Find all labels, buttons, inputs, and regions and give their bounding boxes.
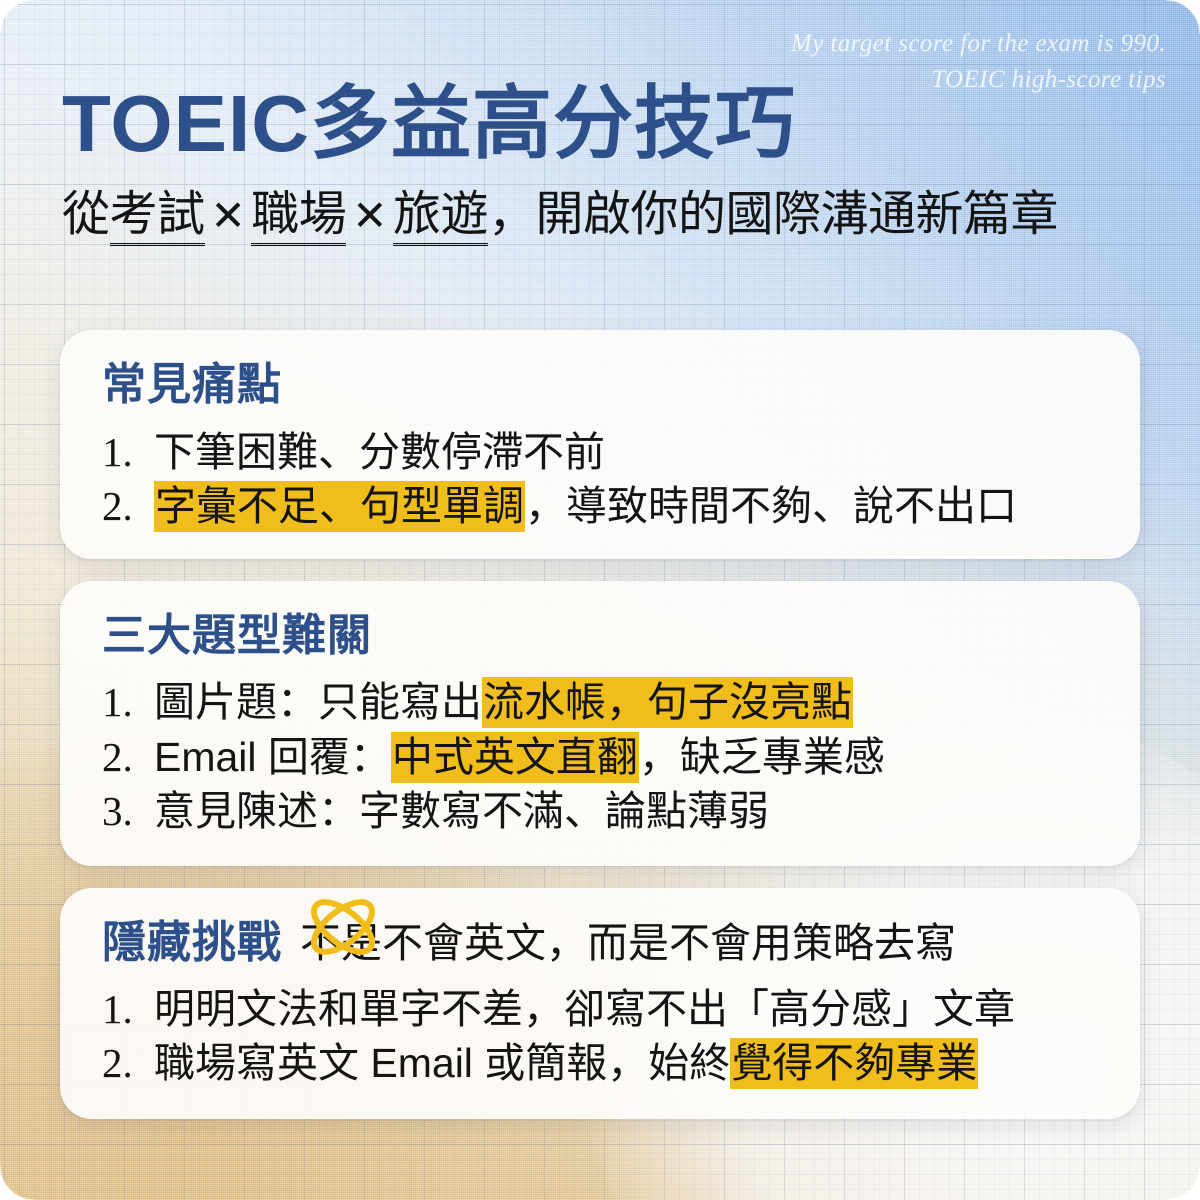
card-hidden-challenge: 隱藏挑戰 不是不會英文，而是不會用策略去寫 1. 明明文法和單字不差，卻寫不出「…	[60, 888, 1140, 1119]
list-item-number: 2.	[102, 1036, 154, 1090]
list-item-number: 1.	[102, 982, 154, 1036]
list-question-types: 1. 圖片題：只能寫出流水帳，句子沒亮點 2. Email 回覆：中式英文直翻，…	[102, 675, 1102, 837]
text-plain-pre: 下筆困難、分數停滯不前	[154, 429, 605, 475]
list-item-text: 字彙不足、句型單調，導致時間不夠、說不出口	[154, 479, 1102, 533]
list-item: 3. 意見陳述：字數寫不滿、論點薄弱	[102, 784, 1102, 838]
list-item-number: 1.	[102, 425, 154, 479]
highlighted-phrase: 中式英文直翻	[391, 732, 639, 783]
highlighted-phrase: 覺得不夠專業	[730, 1038, 978, 1089]
list-item-text: 意見陳述：字數寫不滿、論點薄弱	[154, 784, 1102, 838]
highlighted-phrase: 流水帳，句子沒亮點	[482, 677, 853, 728]
card-heading-row-hidden-challenge: 隱藏挑戰 不是不會英文，而是不會用策略去寫	[102, 918, 1102, 969]
card-stack: 常見痛點 1. 下筆困難、分數停滯不前 2. 字彙不足、句型單調，導致時間不夠、…	[60, 330, 1140, 1141]
text-plain-pre: Email 回覆：	[154, 734, 391, 780]
corner-mask-top-right	[1166, 0, 1200, 34]
card-heading-question-types: 三大題型難關	[102, 611, 1102, 662]
page-subtitle: 從考試✕職場✕旅遊，開啟你的國際溝通新篇章	[62, 188, 1152, 242]
card-question-types: 三大題型難關 1. 圖片題：只能寫出流水帳，句子沒亮點 2. Email 回覆：…	[60, 581, 1140, 866]
subtitle-tail: ，開啟你的國際溝通新篇章	[488, 188, 1058, 241]
page-title: TOEIC多益高分技巧	[62, 84, 1152, 164]
infographic-canvas: My target score for the exam is 990. TOE…	[0, 0, 1200, 1200]
list-item-number: 2.	[102, 479, 154, 533]
corner-mask-bottom-left	[0, 1166, 34, 1200]
list-item: 2. Email 回覆：中式英文直翻，缺乏專業感	[102, 730, 1102, 784]
list-item-number: 2.	[102, 730, 154, 784]
subtitle-keyword-workplace: 職場	[251, 188, 346, 246]
list-item: 1. 明明文法和單字不差，卻寫不出「高分感」文章	[102, 982, 1102, 1036]
highlighted-phrase: 字彙不足、句型單調	[154, 481, 525, 532]
subtitle-prefix: 從	[62, 188, 110, 241]
subtitle-separator-2: ✕	[346, 192, 393, 239]
card-pain-points: 常見痛點 1. 下筆困難、分數停滯不前 2. 字彙不足、句型單調，導致時間不夠、…	[60, 330, 1140, 559]
card-inline-note: 不是不會英文，而是不會用策略去寫	[300, 919, 956, 968]
text-plain-pre: 職場寫英文 Email 或簡報，始終	[154, 1040, 730, 1086]
list-item-text: 圖片題：只能寫出流水帳，句子沒亮點	[154, 675, 1102, 729]
list-item: 2. 職場寫英文 Email 或簡報，始終覺得不夠專業	[102, 1036, 1102, 1090]
list-pain-points: 1. 下筆困難、分數停滯不前 2. 字彙不足、句型單調，導致時間不夠、說不出口	[102, 425, 1102, 533]
list-item: 1. 下筆困難、分數停滯不前	[102, 425, 1102, 479]
list-item-text: 職場寫英文 Email 或簡報，始終覺得不夠專業	[154, 1036, 1102, 1090]
list-item-number: 3.	[102, 784, 154, 838]
header: TOEIC多益高分技巧 從考試✕職場✕旅遊，開啟你的國際溝通新篇章	[62, 84, 1152, 242]
subtitle-keyword-exam: 考試	[110, 188, 205, 246]
watermark-line-1: My target score for the exam is 990.	[726, 26, 1166, 62]
text-plain-post: ，導致時間不夠、說不出口	[525, 483, 1017, 529]
list-item: 2. 字彙不足、句型單調，導致時間不夠、說不出口	[102, 479, 1102, 533]
list-item-text: Email 回覆：中式英文直翻，缺乏專業感	[154, 730, 1102, 784]
subtitle-separator-1: ✕	[205, 192, 252, 239]
list-hidden-challenge: 1. 明明文法和單字不差，卻寫不出「高分感」文章 2. 職場寫英文 Email …	[102, 982, 1102, 1090]
text-plain-pre: 圖片題：只能寫出	[154, 679, 482, 725]
subtitle-keyword-travel: 旅遊	[393, 188, 488, 246]
card-heading-pain-points: 常見痛點	[102, 360, 1102, 411]
card-heading-hidden-challenge: 隱藏挑戰	[102, 918, 282, 969]
list-item-number: 1.	[102, 675, 154, 729]
corner-mask-top-left	[0, 0, 34, 34]
corner-mask-bottom-right	[1166, 1166, 1200, 1200]
text-plain-pre: 意見陳述：字數寫不滿、論點薄弱	[154, 788, 769, 834]
list-item-text: 下筆困難、分數停滯不前	[154, 425, 1102, 479]
list-item: 1. 圖片題：只能寫出流水帳，句子沒亮點	[102, 675, 1102, 729]
text-plain-post: ，缺乏專業感	[639, 734, 885, 780]
text-plain-pre: 明明文法和單字不差，卻寫不出「高分感」文章	[154, 986, 1015, 1032]
list-item-text: 明明文法和單字不差，卻寫不出「高分感」文章	[154, 982, 1102, 1036]
